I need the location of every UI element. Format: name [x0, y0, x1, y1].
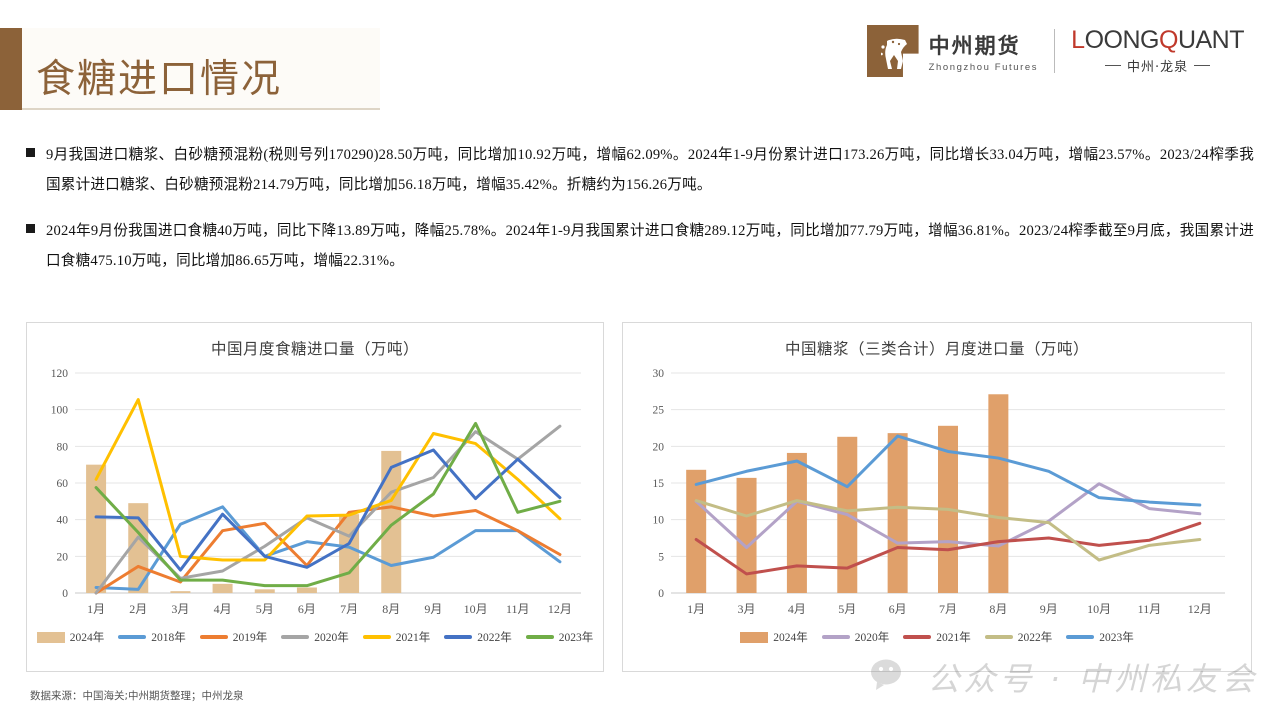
- logo-divider: [1054, 29, 1055, 73]
- legend-item-2024年[interactable]: 2024年: [37, 629, 105, 645]
- x-axis-tick-label: 1月: [87, 602, 105, 616]
- x-axis-tick-label: 9月: [1040, 602, 1058, 616]
- legend-item-2021年[interactable]: 2021年: [903, 629, 971, 645]
- logo-dash-right: [1194, 65, 1210, 66]
- logo-dash-left: [1105, 65, 1121, 66]
- legend-label: 2020年: [314, 629, 349, 645]
- legend-line-swatch: [822, 635, 850, 639]
- chart-title: 中国糖浆（三类合计）月度进口量（万吨）: [623, 337, 1251, 359]
- legend-item-2023年[interactable]: 2023年: [526, 629, 594, 645]
- page-title: 食糖进口情况: [36, 48, 282, 104]
- source-note: 数据来源：中国海关;中州期货整理；中州龙泉: [30, 688, 244, 703]
- legend-line-swatch: [903, 635, 931, 639]
- chart-legend: 2024年2020年2021年2022年2023年: [623, 629, 1251, 645]
- chart-bar: [988, 394, 1008, 593]
- legend-line-swatch: [444, 635, 472, 639]
- x-axis-tick-label: 2月: [129, 602, 147, 616]
- x-axis-tick-label: 4月: [214, 602, 232, 616]
- legend-line-swatch: [200, 635, 228, 639]
- chart-bar: [339, 514, 359, 593]
- legend-line-swatch: [281, 635, 309, 639]
- brand-logo: 中州期货 Zhongzhou Futures LOONGQUANT 中州·龙泉: [867, 22, 1244, 80]
- legend-bar-swatch: [37, 632, 65, 643]
- y-axis-tick-label: 0: [658, 588, 664, 600]
- y-axis-tick-label: 60: [57, 478, 69, 490]
- legend-label: 2018年: [151, 629, 186, 645]
- chart-svg-sugar-import: 0204060801001201月2月3月4月5月6月7月8月9月10月11月1…: [27, 359, 603, 627]
- chart-svg-syrup-import: 0510152025301月3月4月5月6月7月8月9月10月11月12月: [623, 359, 1251, 627]
- x-axis-tick-label: 9月: [424, 602, 442, 616]
- bullet-list: 9月我国进口糖浆、白砂糖预混粉(税则号列170290)28.50万吨，同比增加1…: [26, 140, 1254, 292]
- legend-label: 2024年: [773, 629, 808, 645]
- legend-label: 2020年: [855, 629, 890, 645]
- chart-bar: [213, 584, 233, 593]
- chart-bar: [255, 589, 275, 593]
- legend-item-2024年[interactable]: 2024年: [740, 629, 808, 645]
- x-axis-tick-label: 8月: [382, 602, 400, 616]
- chart-title: 中国月度食糖进口量（万吨）: [27, 337, 603, 359]
- x-axis-tick-label: 10月: [464, 602, 488, 616]
- y-axis-tick-label: 10: [653, 515, 665, 527]
- y-axis-tick-label: 80: [57, 441, 69, 453]
- legend-label: 2023年: [1099, 629, 1134, 645]
- legend-line-swatch: [526, 635, 554, 639]
- x-axis-tick-label: 3月: [171, 602, 189, 616]
- leopard-logo-icon: [867, 25, 919, 77]
- x-axis-tick-label: 6月: [889, 602, 907, 616]
- x-axis-tick-label: 4月: [788, 602, 806, 616]
- legend-item-2023年[interactable]: 2023年: [1066, 629, 1134, 645]
- x-axis-tick-label: 5月: [256, 602, 274, 616]
- chart-plot-area: 0204060801001201月2月3月4月5月6月7月8月9月10月11月1…: [27, 359, 603, 627]
- bullet-item: 2024年9月份我国进口食糖40万吨，同比下降13.89万吨，降幅25.78%。…: [26, 216, 1254, 276]
- x-axis-tick-label: 7月: [340, 602, 358, 616]
- y-axis-tick-label: 40: [57, 515, 69, 527]
- legend-item-2018年[interactable]: 2018年: [118, 629, 186, 645]
- y-axis-tick-label: 20: [57, 551, 69, 563]
- legend-label: 2021年: [396, 629, 431, 645]
- y-axis-tick-label: 15: [653, 478, 665, 490]
- chart-bar: [381, 451, 401, 593]
- chart-bar: [888, 433, 908, 593]
- logo-brand-cn: 中州·龙泉: [1127, 56, 1188, 75]
- logo-company-en: Zhongzhou Futures: [929, 62, 1039, 73]
- legend-label: 2023年: [559, 629, 594, 645]
- y-axis-tick-label: 120: [51, 368, 69, 380]
- bullet-square-icon: [26, 148, 35, 157]
- legend-item-2020年[interactable]: 2020年: [281, 629, 349, 645]
- x-axis-tick-label: 8月: [989, 602, 1007, 616]
- y-axis-tick-label: 20: [653, 441, 665, 453]
- x-axis-tick-label: 7月: [939, 602, 957, 616]
- x-axis-tick-label: 5月: [838, 602, 856, 616]
- legend-label: 2019年: [233, 629, 268, 645]
- bullet-text: 2024年9月份我国进口食糖40万吨，同比下降13.89万吨，降幅25.78%。…: [46, 216, 1254, 276]
- logo-company-cn: 中州期货: [929, 30, 1039, 60]
- y-axis-tick-label: 0: [62, 588, 68, 600]
- x-axis-tick-label: 11月: [1138, 602, 1162, 616]
- legend-line-swatch: [1066, 635, 1094, 639]
- chart-bar: [170, 591, 190, 593]
- title-accent-bar: [0, 28, 22, 110]
- legend-label: 2024年: [70, 629, 105, 645]
- chart-panel-sugar-import: 中国月度食糖进口量（万吨） 0204060801001201月2月3月4月5月6…: [26, 322, 604, 672]
- legend-item-2022年[interactable]: 2022年: [985, 629, 1053, 645]
- chart-panel-syrup-import: 中国糖浆（三类合计）月度进口量（万吨） 0510152025301月3月4月5月…: [622, 322, 1252, 672]
- logo-brand-en: LOONGQUANT: [1071, 28, 1244, 53]
- legend-label: 2021年: [936, 629, 971, 645]
- legend-item-2022年[interactable]: 2022年: [444, 629, 512, 645]
- chart-legend: 2024年2018年2019年2020年2021年2022年2023年: [27, 629, 603, 645]
- bullet-square-icon: [26, 224, 35, 233]
- chart-bar: [737, 478, 757, 593]
- x-axis-tick-label: 6月: [298, 602, 316, 616]
- chart-line-2021年: [96, 400, 560, 560]
- y-axis-tick-label: 25: [653, 405, 665, 417]
- legend-item-2020年[interactable]: 2020年: [822, 629, 890, 645]
- legend-line-swatch: [363, 635, 391, 639]
- logo-brand-cn-wrap: 中州·龙泉: [1105, 56, 1210, 75]
- chart-bar: [297, 588, 317, 594]
- legend-item-2019年[interactable]: 2019年: [200, 629, 268, 645]
- y-axis-tick-label: 5: [658, 551, 664, 563]
- x-axis-tick-label: 3月: [738, 602, 756, 616]
- legend-line-swatch: [118, 635, 146, 639]
- legend-bar-swatch: [740, 632, 768, 643]
- slide-root: 食糖进口情况 中州期货 Zhongzhou Futures LOONGQUANT…: [0, 0, 1280, 720]
- legend-label: 2022年: [1018, 629, 1053, 645]
- chart-bar: [686, 470, 706, 593]
- x-axis-tick-label: 11月: [506, 602, 530, 616]
- legend-label: 2022年: [477, 629, 512, 645]
- chart-bar: [86, 465, 106, 593]
- x-axis-tick-label: 12月: [548, 602, 572, 616]
- bullet-text: 9月我国进口糖浆、白砂糖预混粉(税则号列170290)28.50万吨，同比增加1…: [46, 140, 1254, 200]
- chart-line-2022年: [96, 450, 560, 570]
- y-axis-tick-label: 100: [51, 405, 69, 417]
- legend-item-2021年[interactable]: 2021年: [363, 629, 431, 645]
- x-axis-tick-label: 10月: [1087, 602, 1111, 616]
- chart-bar: [787, 453, 807, 593]
- x-axis-tick-label: 1月: [687, 602, 705, 616]
- x-axis-tick-label: 12月: [1188, 602, 1212, 616]
- legend-line-swatch: [985, 635, 1013, 639]
- leopard-glyph-icon: [881, 35, 913, 73]
- y-axis-tick-label: 30: [653, 368, 665, 380]
- bullet-item: 9月我国进口糖浆、白砂糖预混粉(税则号列170290)28.50万吨，同比增加1…: [26, 140, 1254, 200]
- chart-plot-area: 0510152025301月3月4月5月6月7月8月9月10月11月12月: [623, 359, 1251, 627]
